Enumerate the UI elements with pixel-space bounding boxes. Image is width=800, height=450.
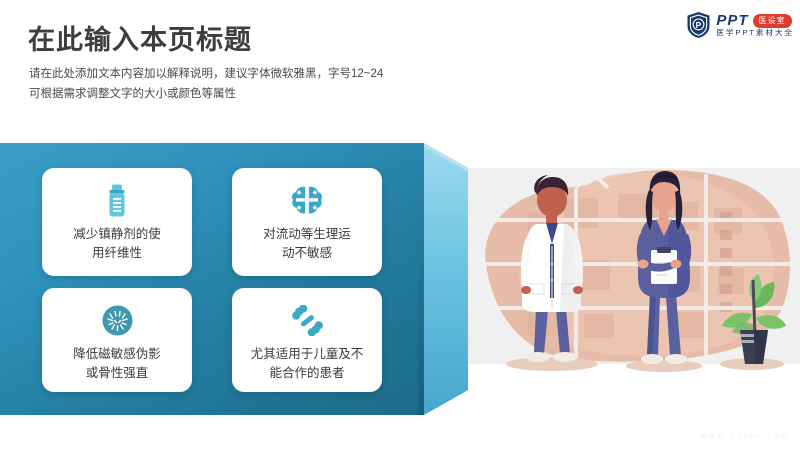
site-watermark: www.ppter.com	[700, 430, 790, 440]
feature-card-3-label: 降低磁敏感伪影 或骨性强直	[42, 345, 192, 383]
feature-card-4[interactable]: 尤其适用于儿童及不 能合作的患者	[232, 288, 382, 392]
brain-icon	[290, 183, 324, 217]
page-subtitle: 请在此处添加文本内容加以解释说明，建议字体微软雅黑，字号12~24 可根据需求调…	[29, 64, 383, 104]
logo-tagline: 医学PPT素材大全	[716, 29, 794, 37]
shield-icon: P	[686, 11, 711, 39]
logo-primary-row: PPT 医设室	[716, 13, 794, 28]
subtitle-line-2: 可根据需求调整文字的大小或颜色等属性	[29, 84, 383, 104]
feature-card-1-label: 减少镇静剂的使 用纤维性	[42, 225, 192, 263]
page-title: 在此输入本页标题	[28, 18, 252, 57]
card-1-line-2: 用纤维性	[42, 244, 192, 263]
feature-card-4-label: 尤其适用于儿童及不 能合作的患者	[232, 345, 382, 383]
card-2-line-1: 对流动等生理运	[232, 225, 382, 244]
panel-side-face-3d	[418, 143, 470, 415]
card-2-line-2: 动不敏感	[232, 244, 382, 263]
card-3-line-2: 或骨性强直	[42, 364, 192, 383]
cell-texture-icon	[102, 303, 133, 337]
feature-card-2[interactable]: 对流动等生理运 动不敏感	[232, 168, 382, 276]
doctor-and-nurse-illustration	[468, 168, 800, 396]
card-3-line-1: 降低磁敏感伪影	[42, 345, 192, 364]
feature-card-2-label: 对流动等生理运 动不敏感	[232, 225, 382, 263]
medicine-vial-icon	[105, 183, 129, 217]
card-4-line-1: 尤其适用于儿童及不	[232, 345, 382, 364]
brand-logo[interactable]: P PPT 医设室 医学PPT素材大全	[686, 8, 794, 42]
shield-letter: P	[696, 20, 702, 30]
subtitle-line-1: 请在此处添加文本内容加以解释说明，建议字体微软雅黑，字号12~24	[29, 64, 383, 84]
logo-text-block: PPT 医设室 医学PPT素材大全	[716, 13, 794, 37]
feature-card-1[interactable]: 减少镇静剂的使 用纤维性	[42, 168, 192, 276]
logo-brand-text: PPT	[716, 13, 748, 28]
feature-card-3[interactable]: 降低磁敏感伪影 或骨性强直	[42, 288, 192, 392]
bone-icon	[291, 303, 324, 337]
card-4-line-2: 能合作的患者	[232, 364, 382, 383]
logo-badge: 医设室	[753, 14, 792, 28]
card-1-line-1: 减少镇静剂的使	[42, 225, 192, 244]
